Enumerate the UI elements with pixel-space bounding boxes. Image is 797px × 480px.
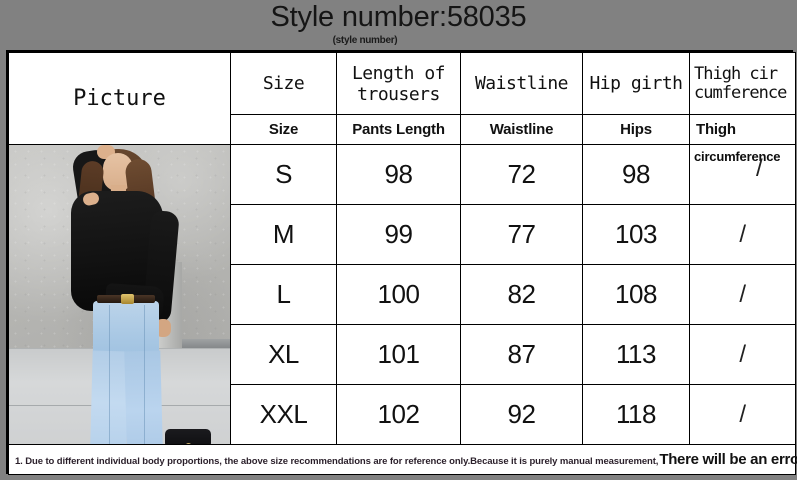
subheader-pants-length: Pants Length bbox=[337, 115, 461, 145]
thigh-slash: / bbox=[739, 281, 745, 308]
cell-thigh: / bbox=[690, 385, 796, 445]
cell-waistline: 92 bbox=[461, 385, 583, 445]
cell-size: XXL bbox=[231, 385, 337, 445]
cell-pants-length: 102 bbox=[337, 385, 461, 445]
page-title: Style number:58035 bbox=[0, 0, 797, 34]
thigh-slash: / bbox=[739, 341, 745, 368]
picture-header-cell: Picture bbox=[9, 53, 231, 145]
subheader-waistline: Waistline bbox=[461, 115, 583, 145]
cell-hips: 98 bbox=[583, 145, 690, 205]
table-header-row-primary: Picture Size Length of trousers Waistlin… bbox=[9, 53, 796, 115]
cell-pants-length: 99 bbox=[337, 205, 461, 265]
cell-waistline: 87 bbox=[461, 325, 583, 385]
cell-size: S bbox=[231, 145, 337, 205]
table-footer-row: 1. Due to different individual body prop… bbox=[9, 445, 796, 475]
cell-thigh: circumference / bbox=[690, 145, 796, 205]
disclaimer-note-1: 1. Due to different individual body prop… bbox=[15, 456, 470, 467]
cell-waistline: 77 bbox=[461, 205, 583, 265]
cell-size: XL bbox=[231, 325, 337, 385]
title-area: Style number:58035 (style number) bbox=[0, 0, 797, 50]
thigh-slash: / bbox=[756, 155, 762, 183]
cell-pants-length: 101 bbox=[337, 325, 461, 385]
size-chart-table: Picture Size Length of trousers Waistlin… bbox=[8, 52, 796, 475]
cell-thigh: / bbox=[690, 325, 796, 385]
header-hip-girth: Hip girth bbox=[583, 53, 690, 115]
cell-size: L bbox=[231, 265, 337, 325]
subheader-hips: Hips bbox=[583, 115, 690, 145]
size-chart-page: Style number:58035 (style number) Pictur… bbox=[0, 0, 797, 480]
jeans-seam-right bbox=[144, 305, 145, 444]
page-subtitle: (style number) bbox=[0, 35, 730, 46]
header-thigh-circumference: Thigh cir cumference bbox=[690, 53, 796, 115]
cell-hips: 108 bbox=[583, 265, 690, 325]
disclaimer-inner: 1. Due to different individual body prop… bbox=[15, 451, 789, 468]
subheader-thigh: Thigh bbox=[690, 115, 796, 145]
handbag-clasp bbox=[185, 443, 192, 444]
cell-thigh: / bbox=[690, 265, 796, 325]
subheader-size: Size bbox=[231, 115, 337, 145]
product-photo bbox=[9, 145, 230, 444]
disclaimer-note-2-emphasis: There will be an error of 2~3CM. bbox=[658, 451, 797, 468]
product-photo-cell bbox=[9, 145, 231, 445]
disclaimer-note-2-lead: Because it is purely manual measurement, bbox=[470, 456, 658, 467]
header-waistline: Waistline bbox=[461, 53, 583, 115]
cell-hips: 113 bbox=[583, 325, 690, 385]
header-size: Size bbox=[231, 53, 337, 115]
cell-pants-length: 98 bbox=[337, 145, 461, 205]
disclaimer-cell: 1. Due to different individual body prop… bbox=[9, 445, 796, 475]
size-chart-table-wrapper: Picture Size Length of trousers Waistlin… bbox=[6, 50, 793, 474]
belt-buckle bbox=[121, 294, 134, 304]
cell-size: M bbox=[231, 205, 337, 265]
cell-pants-length: 100 bbox=[337, 265, 461, 325]
thigh-overflow-text: circumference bbox=[694, 149, 780, 164]
thigh-slash: / bbox=[739, 221, 745, 248]
handbag-flap bbox=[165, 429, 211, 444]
cell-waistline: 82 bbox=[461, 265, 583, 325]
cell-hips: 118 bbox=[583, 385, 690, 445]
header-length-of-trousers: Length of trousers bbox=[337, 53, 461, 115]
cell-hips: 103 bbox=[583, 205, 690, 265]
cell-thigh: / bbox=[690, 205, 796, 265]
thigh-slash: / bbox=[739, 401, 745, 428]
table-row: S 98 72 98 circumference / bbox=[9, 145, 796, 205]
jeans-seam-left bbox=[109, 305, 110, 444]
cell-waistline: 72 bbox=[461, 145, 583, 205]
